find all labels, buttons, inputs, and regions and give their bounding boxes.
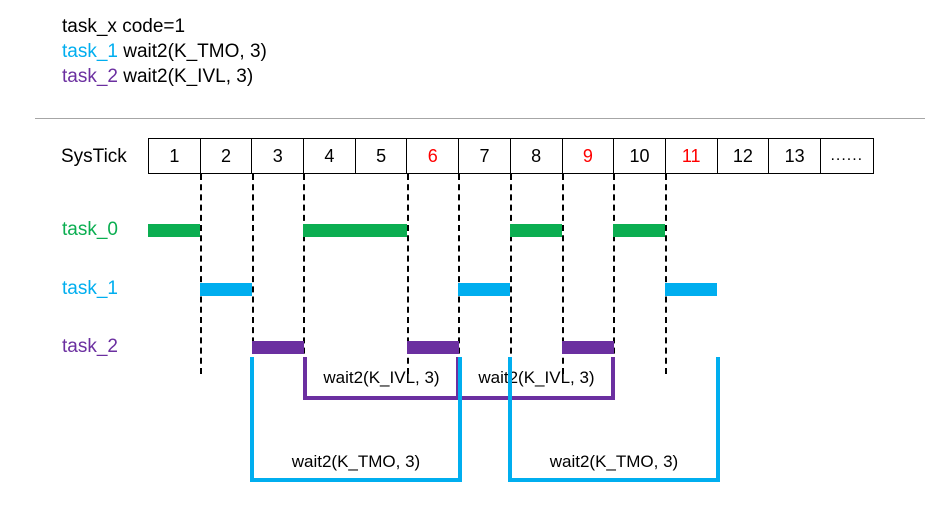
guide-line-tick-11	[665, 174, 667, 374]
bar-task-0	[510, 224, 562, 237]
guide-line-tick-2	[200, 174, 202, 374]
systick-tick-table: 1 2 3 4 5 6 7 8 9 10 11 12 13 ......	[148, 138, 874, 174]
systick-axis-label: SysTick	[61, 140, 127, 173]
row-label-task-1: task_1	[62, 278, 118, 300]
tick-cell-highlighted: 6	[407, 139, 459, 173]
bar-task-0	[148, 224, 200, 237]
tick-cell: 12	[718, 139, 770, 173]
tick-cell: 3	[252, 139, 304, 173]
tick-cell: 8	[511, 139, 563, 173]
bar-task-2	[562, 341, 614, 354]
bar-task-2	[252, 341, 304, 354]
bar-task-0	[613, 224, 665, 237]
bar-task-1	[458, 283, 510, 296]
bar-task-0	[303, 224, 407, 237]
bracket-tmo-2-label: wait2(K_TMO, 3)	[508, 452, 720, 472]
tick-cell: 5	[356, 139, 408, 173]
timing-diagram: SysTick 1 2 3 4 5 6 7 8 9 10 11 12 13 ..…	[0, 0, 945, 508]
bar-task-2	[407, 341, 459, 354]
tick-cell: 10	[614, 139, 666, 173]
row-label-task-0: task_0	[62, 219, 118, 241]
tick-cell: 1	[149, 139, 201, 173]
bar-task-1	[665, 283, 717, 296]
bar-task-1	[200, 283, 252, 296]
tick-cell: 2	[201, 139, 253, 173]
tick-cell: 7	[459, 139, 511, 173]
tick-cell: 4	[304, 139, 356, 173]
guide-line-tick-8	[510, 174, 512, 374]
tick-cell-highlighted: 11	[666, 139, 718, 173]
tick-cell-highlighted: 9	[563, 139, 615, 173]
tick-cell-ellipsis: ......	[821, 139, 873, 173]
tick-cell: 13	[769, 139, 821, 173]
row-label-task-2: task_2	[62, 336, 118, 358]
bracket-tmo-1-label: wait2(K_TMO, 3)	[250, 452, 462, 472]
